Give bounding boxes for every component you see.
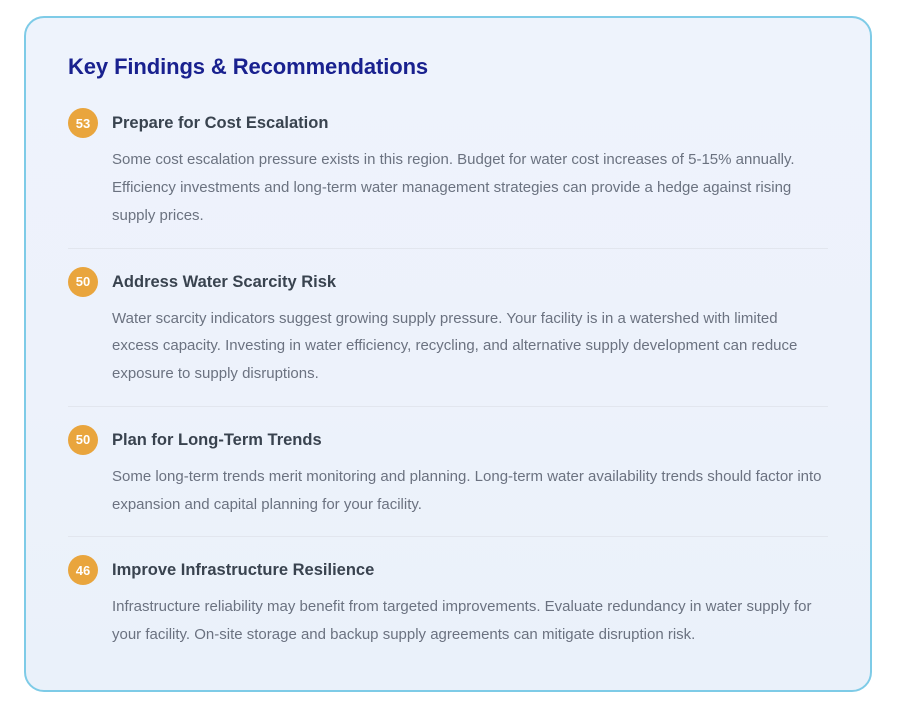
finding-title: Plan for Long-Term Trends <box>112 427 322 451</box>
finding-description: Infrastructure reliability may benefit f… <box>68 593 824 649</box>
page-root: Key Findings & Recommendations 53 Prepar… <box>0 0 908 716</box>
status-badge: 53 <box>68 108 98 138</box>
finding-description: Water scarcity indicators suggest growin… <box>68 305 824 388</box>
findings-list: 53 Prepare for Cost Escalation Some cost… <box>68 110 828 667</box>
status-badge: 46 <box>68 555 98 585</box>
page-title: Key Findings & Recommendations <box>68 54 828 80</box>
key-findings-card: Key Findings & Recommendations 53 Prepar… <box>24 16 872 692</box>
list-item: 46 Improve Infrastructure Resilience Inf… <box>68 537 828 667</box>
status-badge: 50 <box>68 425 98 455</box>
finding-title: Prepare for Cost Escalation <box>112 110 328 134</box>
finding-header: 50 Address Water Scarcity Risk <box>68 269 828 297</box>
finding-header: 46 Improve Infrastructure Resilience <box>68 557 828 585</box>
status-badge: 50 <box>68 267 98 297</box>
finding-title: Improve Infrastructure Resilience <box>112 557 374 581</box>
list-item: 50 Address Water Scarcity Risk Water sca… <box>68 249 828 407</box>
finding-title: Address Water Scarcity Risk <box>112 269 336 293</box>
finding-header: 50 Plan for Long-Term Trends <box>68 427 828 455</box>
finding-description: Some long-term trends merit monitoring a… <box>68 463 824 519</box>
list-item: 53 Prepare for Cost Escalation Some cost… <box>68 110 828 248</box>
finding-header: 53 Prepare for Cost Escalation <box>68 110 828 138</box>
finding-description: Some cost escalation pressure exists in … <box>68 146 824 229</box>
list-item: 50 Plan for Long-Term Trends Some long-t… <box>68 407 828 538</box>
